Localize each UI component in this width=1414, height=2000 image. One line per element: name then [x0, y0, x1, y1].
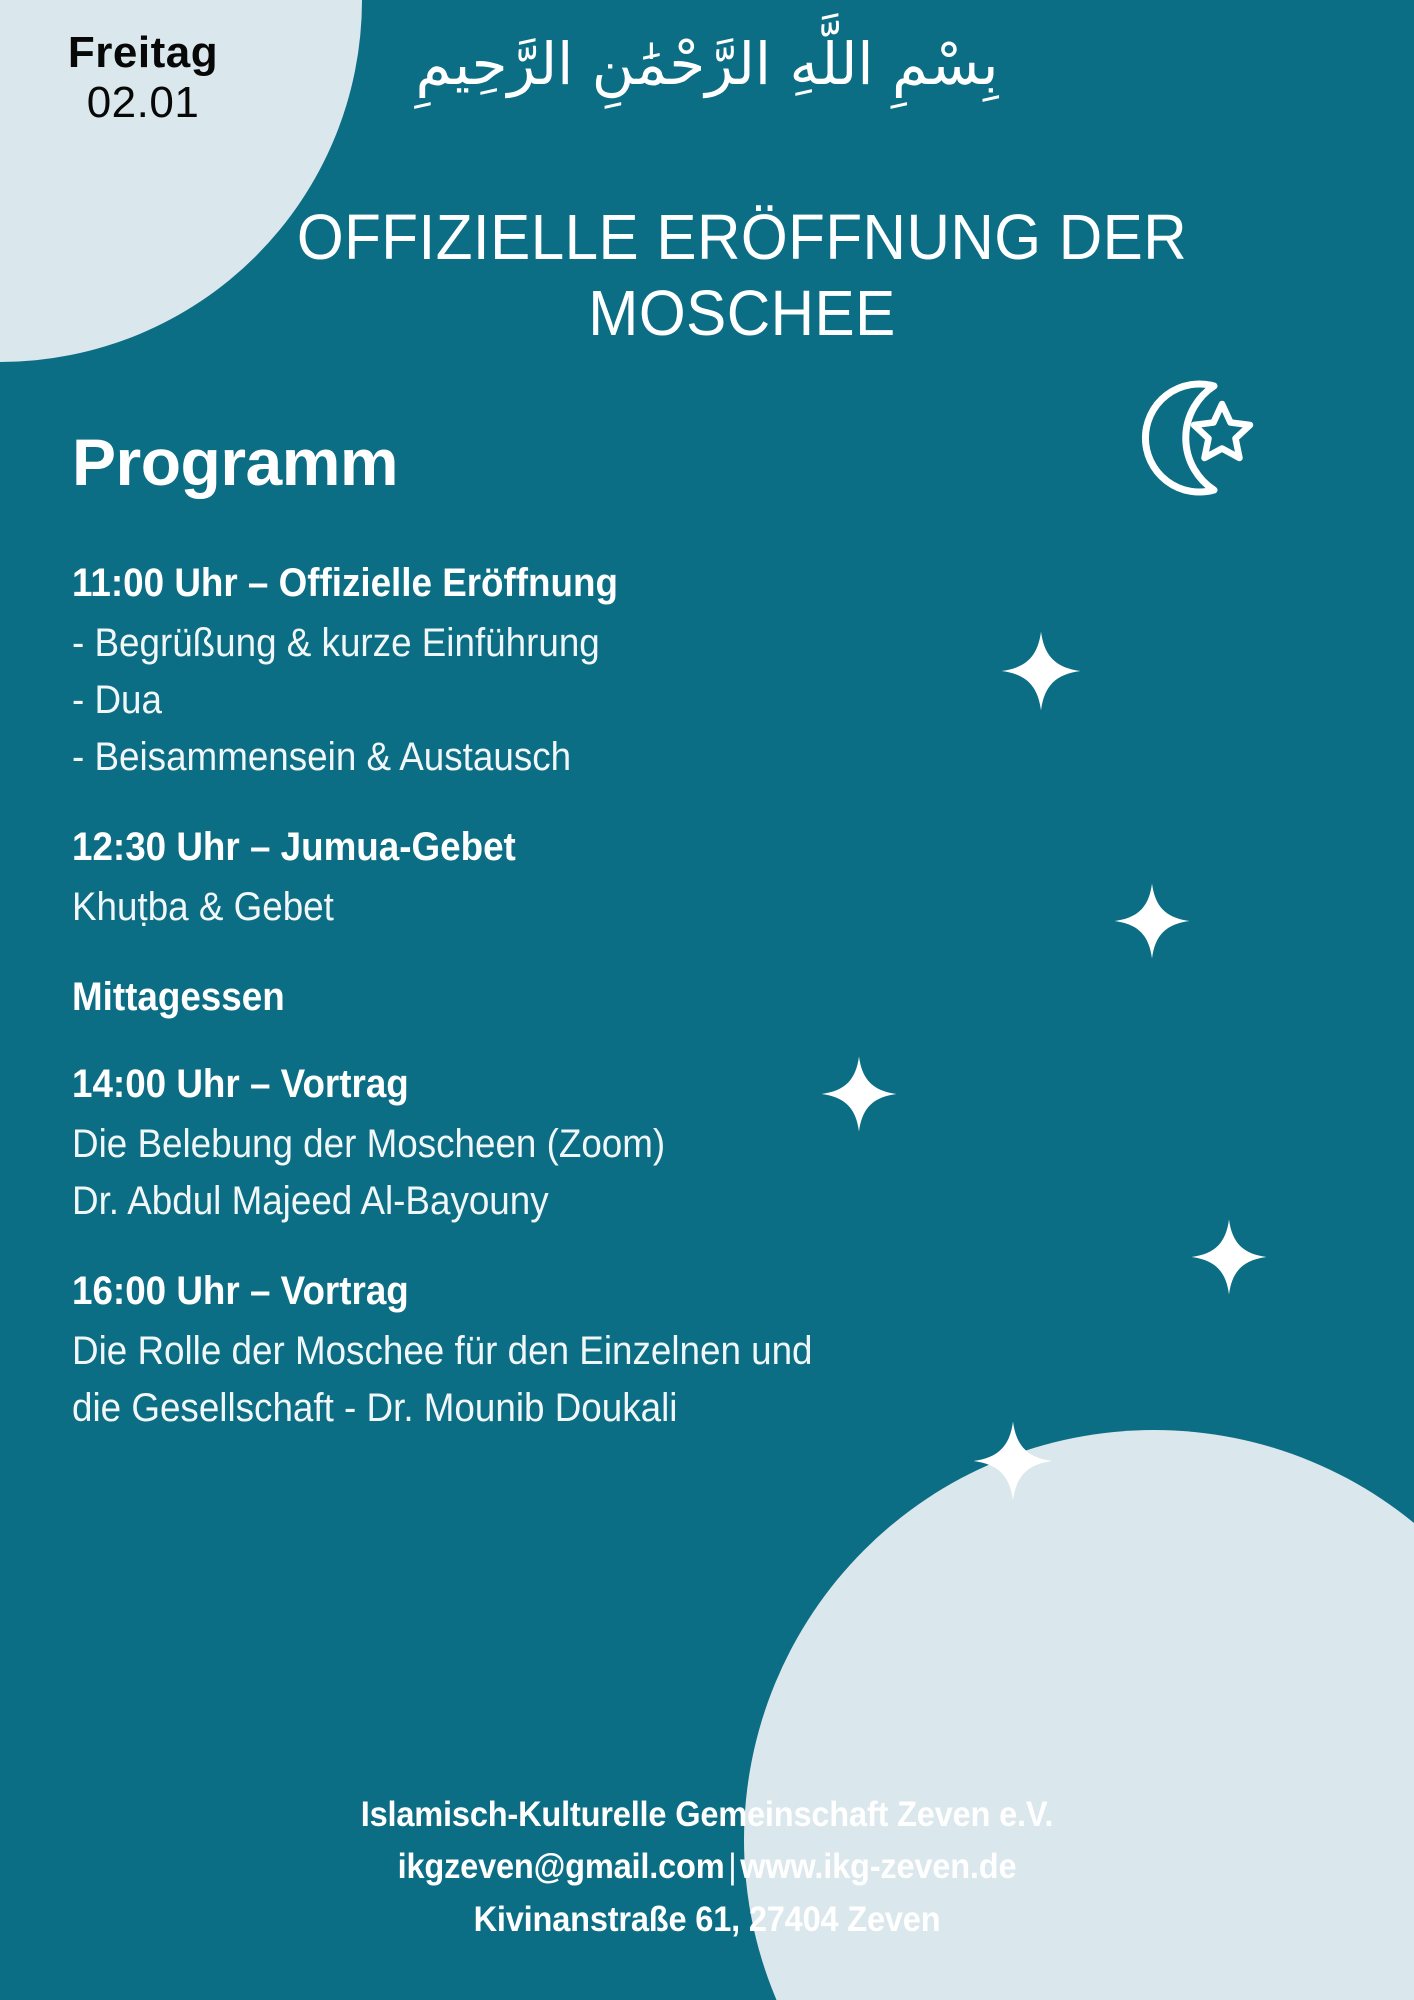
date-badge: Freitag 02.01 [28, 28, 258, 130]
programme-item: 12:30 Uhr – Jumua-Gebet Khuṭba & Gebet [72, 822, 1354, 936]
programme-item-line: Dr. Abdul Majeed Al-Bayouny [72, 1173, 1251, 1230]
programme-item-title: 12:30 Uhr – Jumua-Gebet [72, 822, 1251, 873]
crescent-moon-star-icon [1122, 374, 1254, 502]
programme-item-line: - Beisammensein & Austausch [72, 729, 1251, 786]
programme-item-title: Mittagessen [72, 972, 1251, 1023]
programme-item: 11:00 Uhr – Offizielle Eröffnung - Begrü… [72, 558, 1354, 786]
date-number: 02.01 [28, 77, 258, 130]
footer-organisation: Islamisch-Kulturelle Gemeinschaft Zeven … [49, 1789, 1364, 1842]
programme-item-line: die Gesellschaft - Dr. Mounib Doukali [72, 1380, 1251, 1437]
poster-canvas: Freitag 02.01 بِسْمِ اللَّهِ الرَّحْمَٰن… [0, 0, 1414, 2000]
programme-list: 11:00 Uhr – Offizielle Eröffnung - Begrü… [72, 558, 1354, 1436]
programme-item-line: Khuṭba & Gebet [72, 879, 1251, 936]
footer-website[interactable]: www.ikg-zeven.de [740, 1847, 1016, 1886]
footer-contact: Islamisch-Kulturelle Gemeinschaft Zeven … [0, 1789, 1414, 1947]
programme-item-line: Die Belebung der Moscheen (Zoom) [72, 1116, 1251, 1173]
programme-item: 14:00 Uhr – Vortrag Die Belebung der Mos… [72, 1059, 1354, 1230]
programme-item-title: 16:00 Uhr – Vortrag [72, 1266, 1251, 1317]
programme-item-line: - Dua [72, 672, 1251, 729]
footer-email[interactable]: ikgzeven@gmail.com [398, 1847, 725, 1886]
programme-item: Mittagessen [72, 972, 1354, 1023]
footer-address: Kivinanstraße 61, 27404 Zeven [49, 1894, 1364, 1947]
programme-item-line: Die Rolle der Moschee für den Einzelnen … [72, 1323, 1251, 1380]
page-title: OFFIZIELLE ERÖFFNUNG DER MOSCHEE [176, 200, 1308, 351]
programme-item: 16:00 Uhr – Vortrag Die Rolle der Mosche… [72, 1266, 1354, 1437]
date-weekday: Freitag [28, 28, 258, 77]
section-heading-programm: Programm [72, 424, 398, 500]
footer-separator: | [724, 1847, 740, 1886]
programme-item-line: - Begrüßung & kurze Einführung [72, 615, 1251, 672]
programme-item-title: 11:00 Uhr – Offizielle Eröffnung [72, 558, 1251, 609]
footer-contact-line: ikgzeven@gmail.com|www.ikg-zeven.de [49, 1841, 1364, 1894]
programme-item-title: 14:00 Uhr – Vortrag [72, 1059, 1251, 1110]
